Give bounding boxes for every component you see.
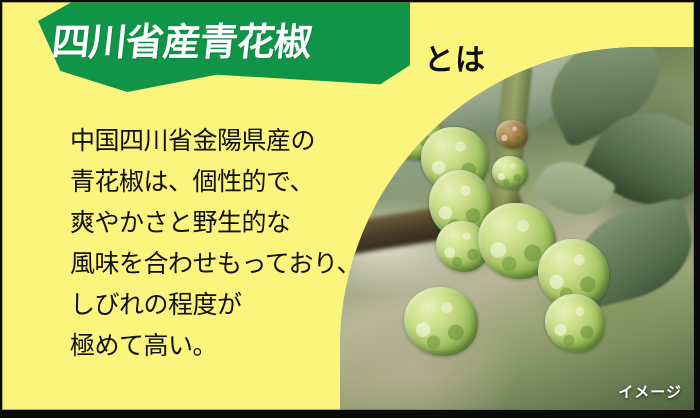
- title-suffix: とは: [424, 35, 486, 79]
- description-line: 爽やかさと野生的な: [70, 203, 370, 244]
- photo-caption: イメージ: [618, 381, 682, 402]
- description-line: 青花椒は、個性的で、: [70, 162, 370, 203]
- content-card: イメージ 四川省産青花椒 とは 中国四川省金陽県産の 青花椒は、個性的で、 爽や…: [2, 2, 694, 410]
- pepper-berry: [496, 120, 528, 149]
- slide-canvas: イメージ 四川省産青花椒 とは 中国四川省金陽県産の 青花椒は、個性的で、 爽や…: [0, 0, 700, 418]
- pepper-berry: [404, 287, 478, 356]
- pepper-berry: [545, 294, 605, 352]
- description-line: 中国四川省金陽県産の: [70, 121, 370, 162]
- description-text: 中国四川省金陽県産の 青花椒は、個性的で、 爽やかさと野生的な 風味を合わせもっ…: [70, 121, 370, 367]
- description-line: 風味を合わせもっており、: [70, 244, 370, 285]
- pepper-berry: [492, 156, 527, 189]
- description-line: 極めて高い。: [70, 326, 370, 367]
- description-line: しびれの程度が: [70, 285, 370, 326]
- product-photo: イメージ: [340, 47, 694, 410]
- page-title: 四川省産青花椒: [50, 24, 354, 62]
- photo-clip: イメージ: [340, 47, 694, 410]
